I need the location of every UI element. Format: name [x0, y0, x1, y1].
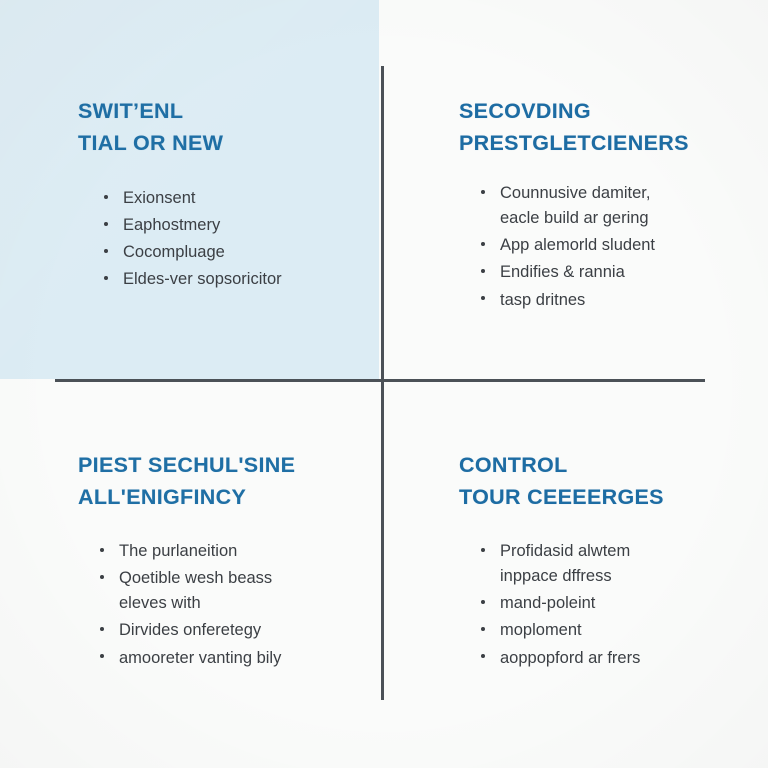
- list-item-label: amooreter vanting bily: [119, 646, 341, 671]
- bullet-dot-icon: [481, 296, 485, 300]
- list-item-label: tasp dritnes: [500, 288, 720, 313]
- bullet-dot-icon: [100, 575, 104, 579]
- list-item: mand-poleint: [481, 591, 728, 616]
- list-item-label: App alemorld sludent: [500, 233, 720, 258]
- quadrant-bottom-left-bullet-list: The purlaneition Qoetible wesh beass ele…: [78, 539, 341, 670]
- bullet-dot-icon: [100, 654, 104, 658]
- quadrant-top-right-bullet-list: Counnusive damiter, eacle build ar gerin…: [459, 181, 720, 312]
- list-item-label: mand-poleint: [500, 591, 728, 616]
- quadrant-bottom-right-bullet-list: Profidasid alwtem inppace dffress mand-p…: [459, 539, 728, 670]
- list-item-label: Eaphostmery: [123, 213, 341, 238]
- list-item: aoppopford ar frers: [481, 646, 728, 671]
- list-item: App alemorld sludent: [481, 233, 720, 258]
- bullet-dot-icon: [104, 249, 108, 253]
- list-item-label: Exionsent: [123, 186, 341, 211]
- list-item: Dirvides onferetegy: [100, 618, 341, 643]
- list-item-label: Profidasid alwtem inppace dffress: [500, 539, 728, 589]
- bullet-dot-icon: [104, 276, 108, 280]
- quadrant-diagram-canvas: SWIT’ENL TIAL OR NEW Exionsent Eaphostme…: [0, 0, 768, 768]
- bullet-dot-icon: [481, 190, 485, 194]
- bullet-dot-icon: [481, 600, 485, 604]
- quadrant-bottom-right-heading: CONTROL TOUR CEEEERGES: [459, 450, 728, 513]
- bullet-dot-icon: [481, 548, 485, 552]
- list-item-label: Endifies & rannia: [500, 260, 720, 285]
- bullet-dot-icon: [481, 242, 485, 246]
- list-item: Endifies & rannia: [481, 260, 720, 285]
- quadrant-top-right: SECOVDING PRESTGLETCIENERS Counnusive da…: [384, 0, 768, 379]
- bullet-dot-icon: [481, 627, 485, 631]
- quadrant-bottom-left-heading: PIEST SECHUL'SINE ALL'ENIGFINCY: [78, 450, 341, 513]
- list-item: Eaphostmery: [104, 213, 341, 238]
- list-item: Eldes-ver sopsoricitor: [104, 267, 341, 292]
- list-item-label: moploment: [500, 618, 728, 643]
- list-item-label: aoppopford ar frers: [500, 646, 728, 671]
- list-item: Qoetible wesh beass eleves with: [100, 566, 341, 616]
- list-item: Exionsent: [104, 186, 341, 211]
- list-item: The purlaneition: [100, 539, 341, 564]
- list-item: Counnusive damiter, eacle build ar gerin…: [481, 181, 720, 231]
- list-item: tasp dritnes: [481, 288, 720, 313]
- list-item: moploment: [481, 618, 728, 643]
- quadrant-top-right-heading: SECOVDING PRESTGLETCIENERS: [459, 96, 720, 159]
- list-item-label: Cocompluage: [123, 240, 341, 265]
- quadrant-bottom-right: CONTROL TOUR CEEEERGES Profidasid alwtem…: [384, 382, 768, 768]
- list-item: Profidasid alwtem inppace dffress: [481, 539, 728, 589]
- list-item-label: Eldes-ver sopsoricitor: [123, 267, 341, 292]
- bullet-dot-icon: [481, 269, 485, 273]
- quadrant-top-left: SWIT’ENL TIAL OR NEW Exionsent Eaphostme…: [0, 0, 381, 379]
- bullet-dot-icon: [104, 195, 108, 199]
- quadrant-bottom-left: PIEST SECHUL'SINE ALL'ENIGFINCY The purl…: [0, 382, 381, 768]
- bullet-dot-icon: [481, 654, 485, 658]
- bullet-dot-icon: [100, 548, 104, 552]
- quadrant-top-left-heading: SWIT’ENL TIAL OR NEW: [78, 96, 341, 159]
- list-item-label: Dirvides onferetegy: [119, 618, 341, 643]
- list-item: amooreter vanting bily: [100, 646, 341, 671]
- list-item: Cocompluage: [104, 240, 341, 265]
- bullet-dot-icon: [104, 222, 108, 226]
- list-item-label: Qoetible wesh beass eleves with: [119, 566, 341, 616]
- list-item-label: Counnusive damiter, eacle build ar gerin…: [500, 181, 720, 231]
- quadrant-top-left-bullet-list: Exionsent Eaphostmery Cocompluage Eldes-…: [78, 186, 341, 292]
- bullet-dot-icon: [100, 627, 104, 631]
- list-item-label: The purlaneition: [119, 539, 341, 564]
